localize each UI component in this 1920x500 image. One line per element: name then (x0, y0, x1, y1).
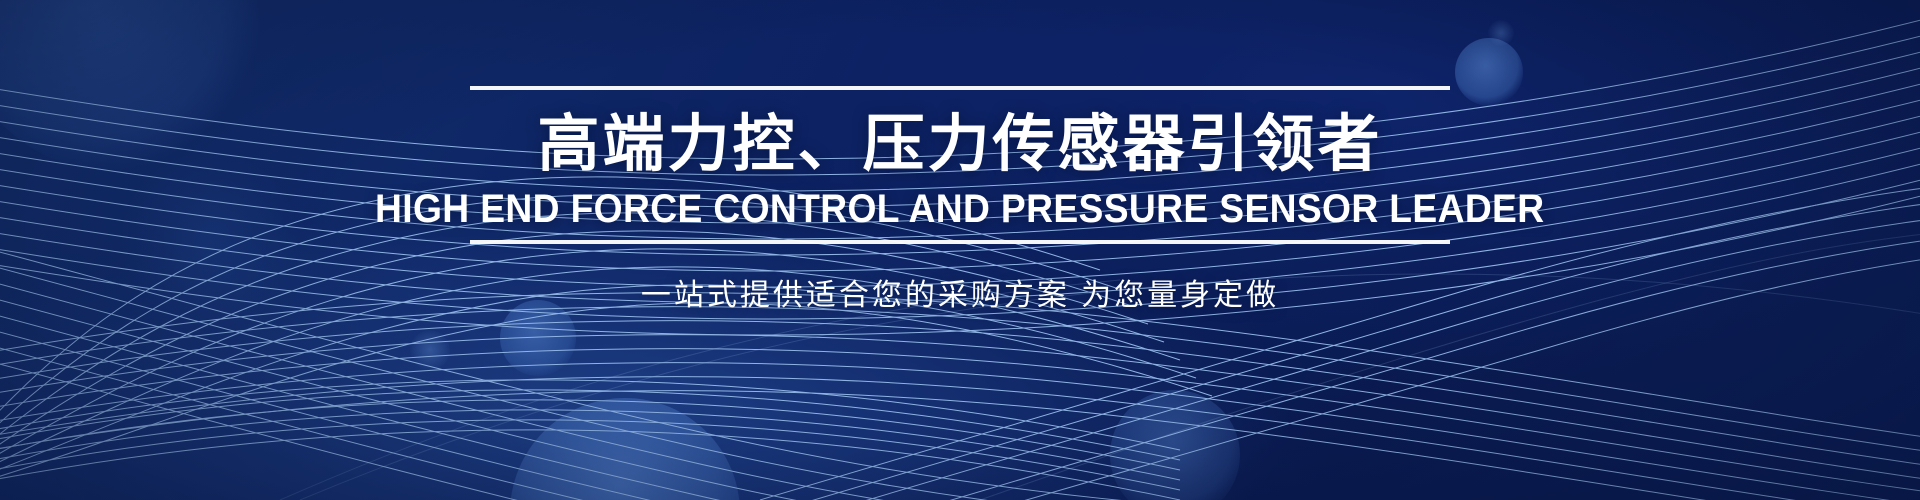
subheadline-chinese: 一站式提供适合您的采购方案 为您量身定做 (641, 270, 1279, 314)
hero-banner: 高端力控、压力传感器引领者 HIGH END FORCE CONTROL AND… (0, 0, 1920, 500)
divider-bottom (470, 240, 1450, 244)
banner-content: 高端力控、压力传感器引领者 HIGH END FORCE CONTROL AND… (0, 0, 1920, 500)
headline-chinese: 高端力控、压力传感器引领者 (537, 112, 1382, 178)
divider-top (470, 86, 1450, 90)
headline-english: HIGH END FORCE CONTROL AND PRESSURE SENS… (375, 188, 1544, 230)
